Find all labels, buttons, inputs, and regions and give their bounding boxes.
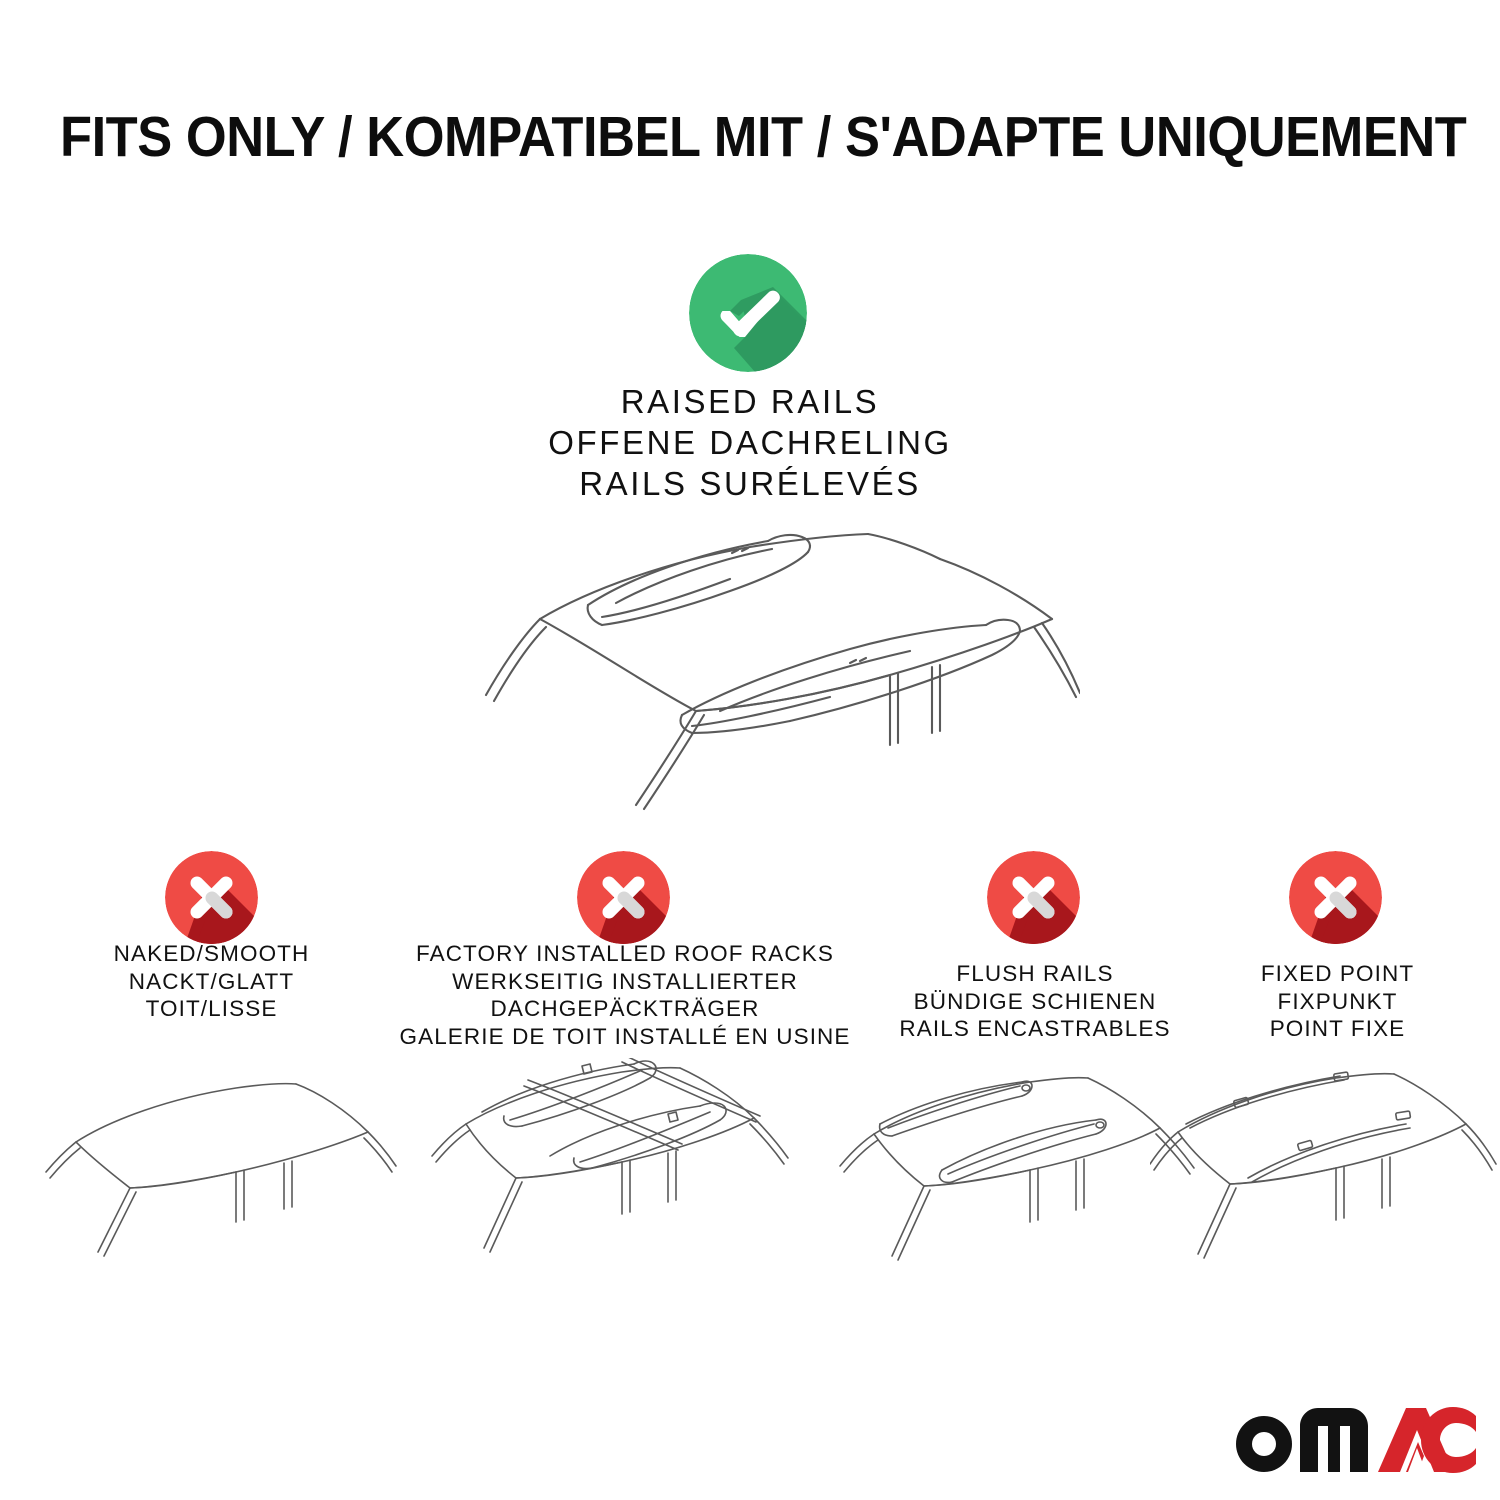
label-factory-roof-racks-fr: GALERIE DE TOIT INSTALLÉ EN USINE — [395, 1023, 855, 1051]
roof-illustration-raised-rails — [420, 515, 1080, 825]
label-flush-rails: FLUSH RAILS BÜNDIGE SCHIENEN RAILS ENCAS… — [860, 960, 1210, 1043]
check-icon-compatible — [689, 254, 807, 372]
label-compatible-en: RAISED RAILS — [250, 381, 1250, 422]
label-naked-smooth: NAKED/SMOOTH NACKT/GLATT TOIT/LISSE — [30, 940, 393, 1023]
label-compatible-de: OFFENE DACHRELING — [250, 422, 1250, 463]
label-fixed-point-de: FIXPUNKT — [1215, 988, 1460, 1016]
label-fixed-point-fr: POINT FIXE — [1215, 1015, 1460, 1043]
roof-illustration-fixed-point — [1150, 1062, 1500, 1292]
label-factory-roof-racks-de-2: DACHGEPÄCKTRÄGER — [395, 995, 855, 1023]
label-flush-rails-de: BÜNDIGE SCHIENEN — [860, 988, 1210, 1016]
label-compatible-fr: RAILS SURÉLEVÉS — [250, 463, 1250, 504]
cross-icon-fixed-point — [1289, 851, 1382, 944]
roof-illustration-naked-smooth — [40, 1062, 400, 1292]
label-flush-rails-fr: RAILS ENCASTRABLES — [860, 1015, 1210, 1043]
label-flush-rails-en: FLUSH RAILS — [860, 960, 1210, 988]
label-factory-roof-racks: FACTORY INSTALLED ROOF RACKS WERKSEITIG … — [395, 940, 855, 1050]
label-naked-smooth-fr: TOIT/LISSE — [30, 995, 393, 1023]
label-compatible: RAISED RAILS OFFENE DACHRELING RAILS SUR… — [250, 381, 1250, 504]
cross-icon-naked-smooth — [165, 851, 258, 944]
roof-illustration-factory-roof-racks — [410, 1058, 800, 1292]
label-fixed-point-en: FIXED POINT — [1215, 960, 1460, 988]
label-naked-smooth-en: NAKED/SMOOTH — [30, 940, 393, 968]
fitment-infographic: FITS ONLY / KOMPATIBEL MIT / S'ADAPTE UN… — [0, 0, 1500, 1500]
label-fixed-point: FIXED POINT FIXPUNKT POINT FIXE — [1215, 960, 1460, 1043]
label-factory-roof-racks-de-1: WERKSEITIG INSTALLIERTER — [395, 968, 855, 996]
cross-icon-factory-roof-racks — [577, 851, 670, 944]
cross-icon-flush-rails — [987, 851, 1080, 944]
label-factory-roof-racks-en: FACTORY INSTALLED ROOF RACKS — [395, 940, 855, 968]
omac-logo — [1228, 1404, 1476, 1476]
logo-letter-m — [1300, 1408, 1368, 1472]
label-naked-smooth-de: NACKT/GLATT — [30, 968, 393, 996]
page-title: FITS ONLY / KOMPATIBEL MIT / S'ADAPTE UN… — [60, 104, 1440, 170]
